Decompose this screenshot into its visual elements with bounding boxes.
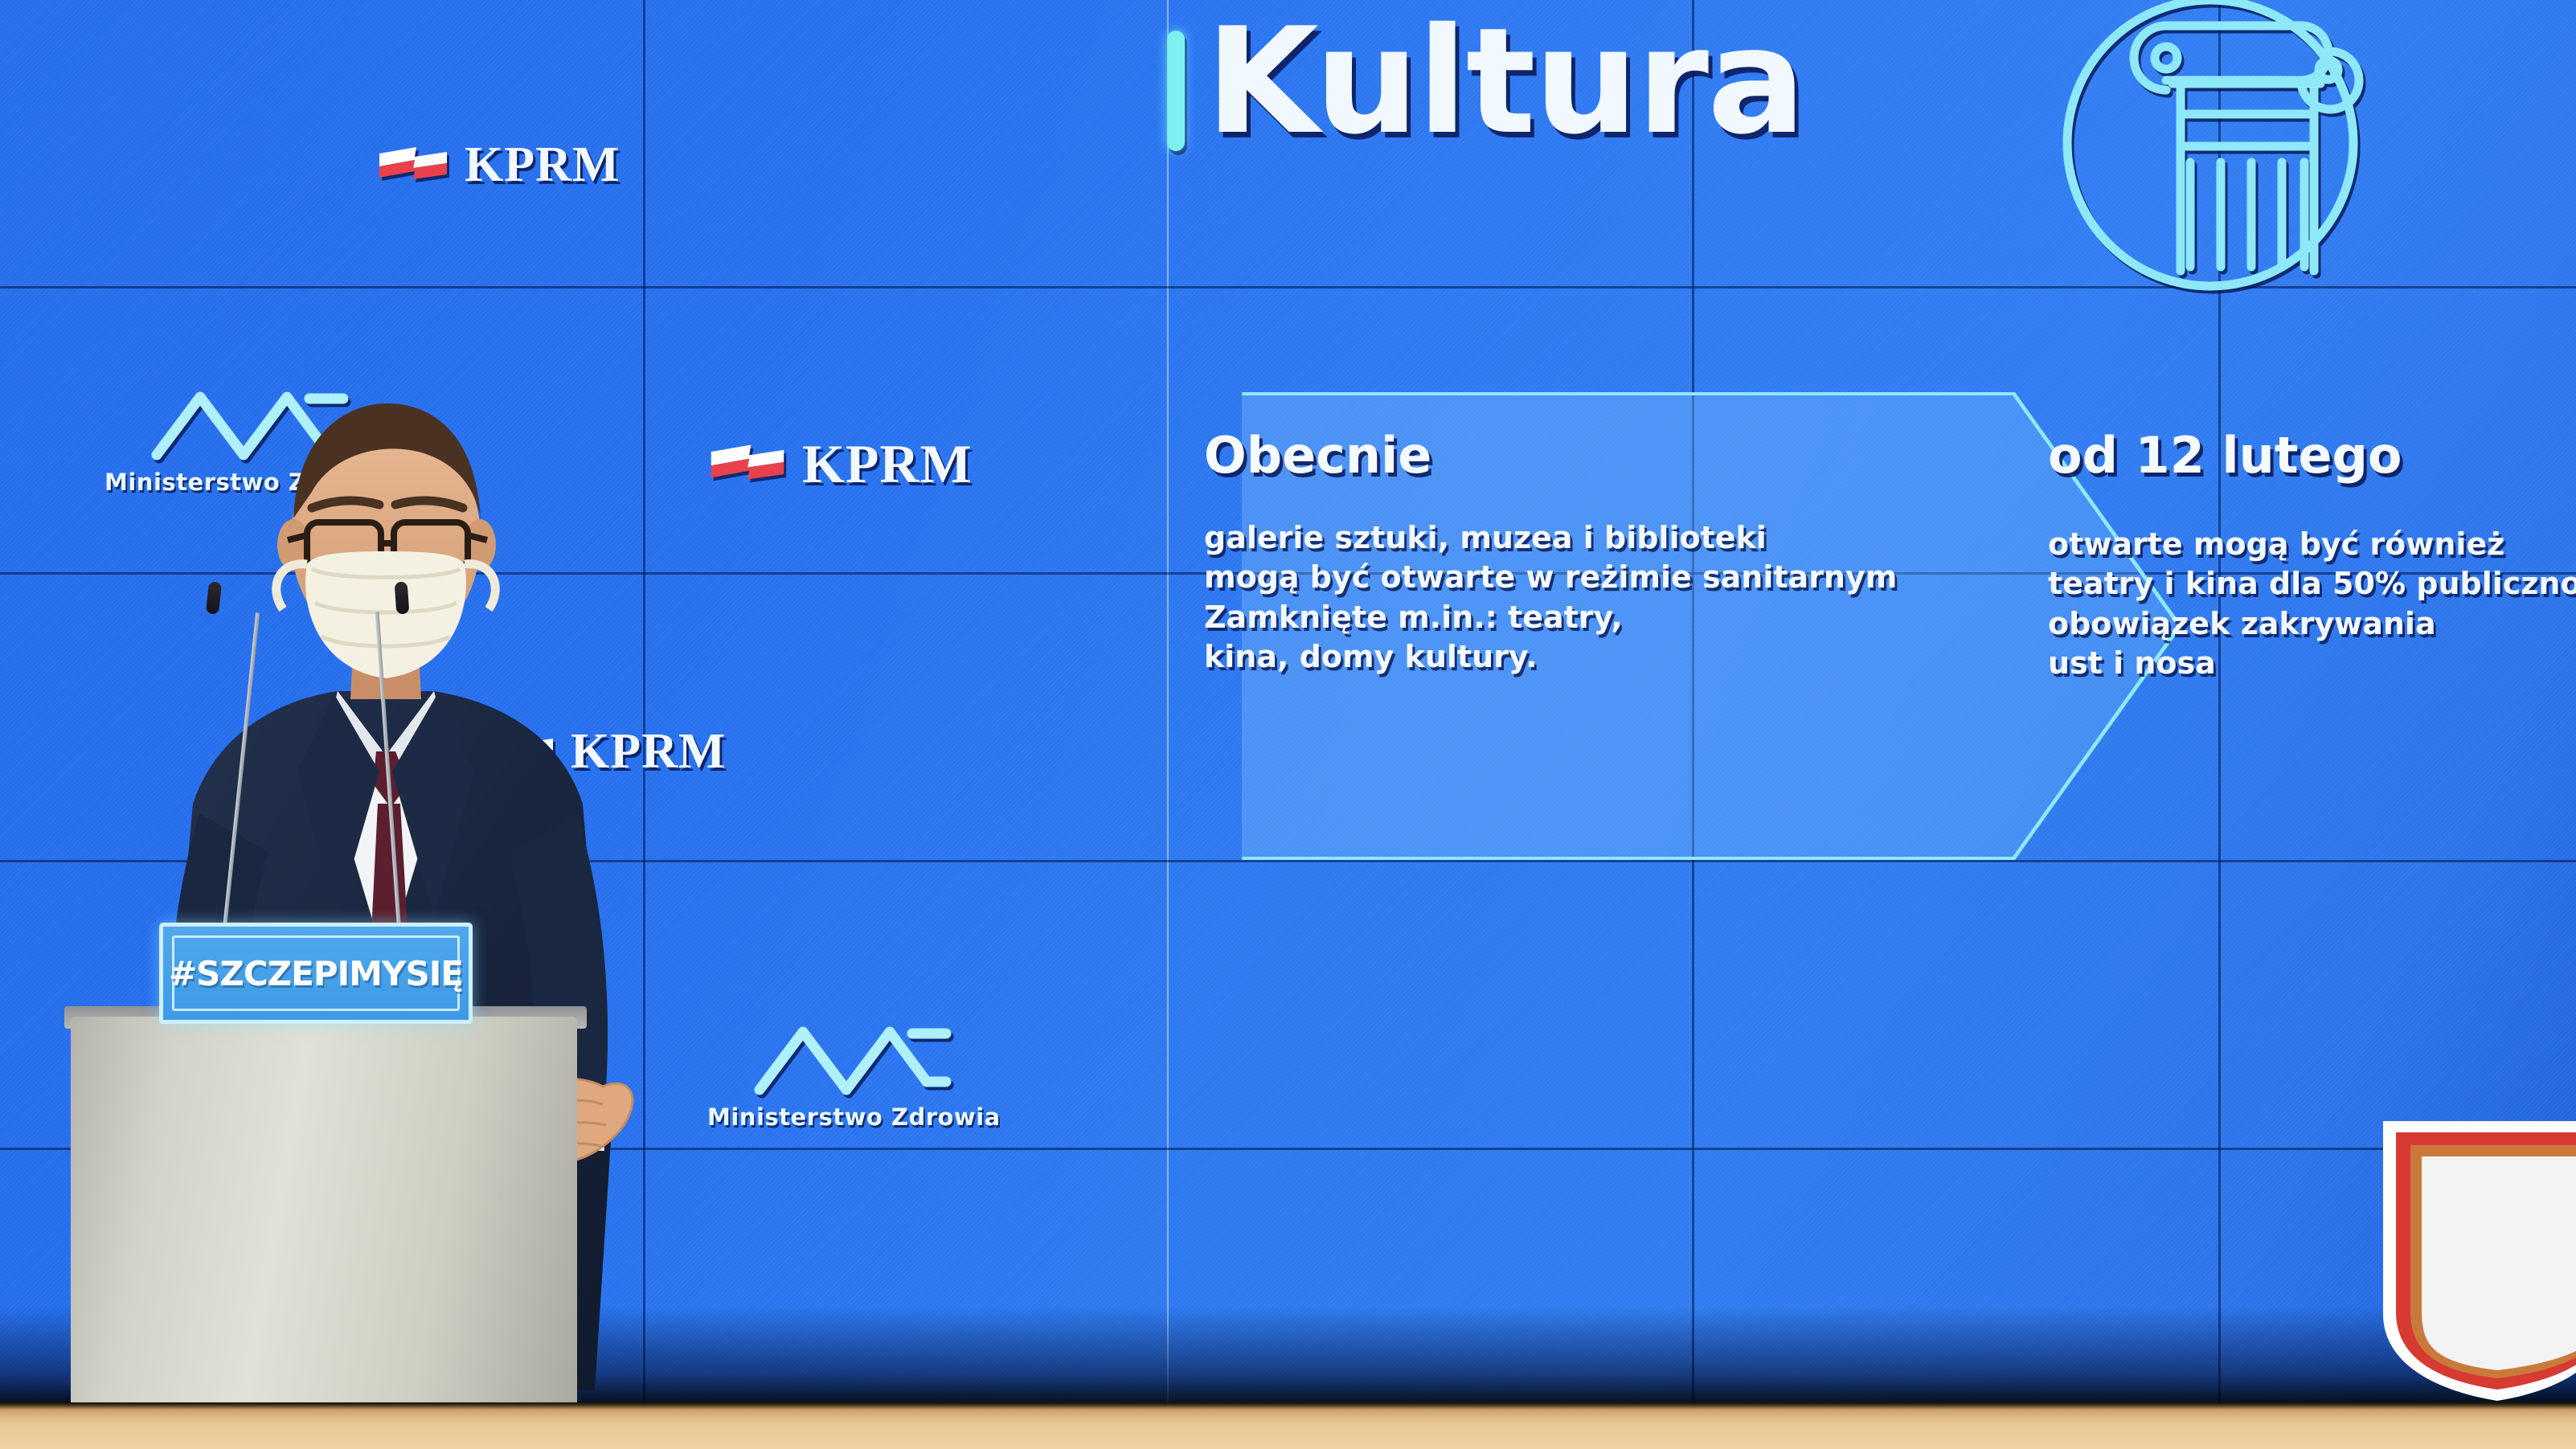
paragraph-line: obowiązek zakrywania (2048, 606, 2436, 641)
floor-shadow (0, 1402, 2576, 1410)
podium-sign: #SZCZEPIMYSIĘ (159, 923, 473, 1024)
podium-sign-text: #SZCZEPIMYSIĘ (169, 954, 463, 993)
column-heading: od 12 lutego (2048, 426, 2576, 485)
kprm-logo: KPRM (376, 137, 620, 194)
shield-emblem (2369, 1113, 2576, 1402)
paragraph-line: teatry i kina dla 50% publiczności (2048, 566, 2576, 601)
slide-column-od-12-lutego: od 12 lutego otwarte mogą być również te… (2048, 426, 2576, 684)
paragraph-line: Zamknięte m.in.: teatry, (1204, 600, 1623, 635)
slide-title: Kultura (1206, 8, 1804, 154)
column-paragraph: otwarte mogą być również teatry i kina d… (2048, 525, 2576, 604)
paragraph-line: ust i nosa (2048, 645, 2216, 681)
column-paragraph: galerie sztuki, muzea i biblioteki mogą … (1204, 518, 2024, 598)
microphone-head (395, 581, 410, 614)
column-paragraph: obowiązek zakrywania ust i nosa (2048, 604, 2576, 684)
ministry-of-health-logo: Ministerstwo Zdrowia (707, 1019, 1001, 1131)
paragraph-line: kina, domy kultury. (1204, 639, 1538, 674)
column-heading: Obecnie (1204, 426, 2024, 485)
polish-flag-icon (707, 440, 788, 489)
kprm-logo: KPRM (707, 432, 973, 496)
stage-floor (0, 1402, 2576, 1449)
polish-flag-icon (376, 142, 450, 188)
mz-zigzag-icon (753, 1086, 954, 1099)
title-accent-bar (1167, 31, 1185, 151)
paragraph-line: mogą być otwarte w reżimie sanitarnym (1204, 559, 1897, 595)
podium (71, 1017, 577, 1402)
ionic-column-icon (2046, 0, 2375, 315)
slide-column-obecnie: Obecnie galerie sztuki, muzea i bibliote… (1204, 426, 2024, 677)
mz-label: Ministerstwo Zdrowia (707, 1103, 1001, 1131)
press-conference-screenshot: Kultura (0, 0, 2576, 1449)
column-paragraph: Zamknięte m.in.: teatry, kina, domy kult… (1204, 598, 2024, 677)
kprm-label: KPRM (465, 137, 620, 194)
paragraph-line: otwarte mogą być również (2048, 526, 2504, 562)
paragraph-line: galerie sztuki, muzea i biblioteki (1204, 520, 1767, 555)
kprm-label: KPRM (802, 432, 973, 496)
slide-title-row: Kultura (1167, 8, 1804, 154)
